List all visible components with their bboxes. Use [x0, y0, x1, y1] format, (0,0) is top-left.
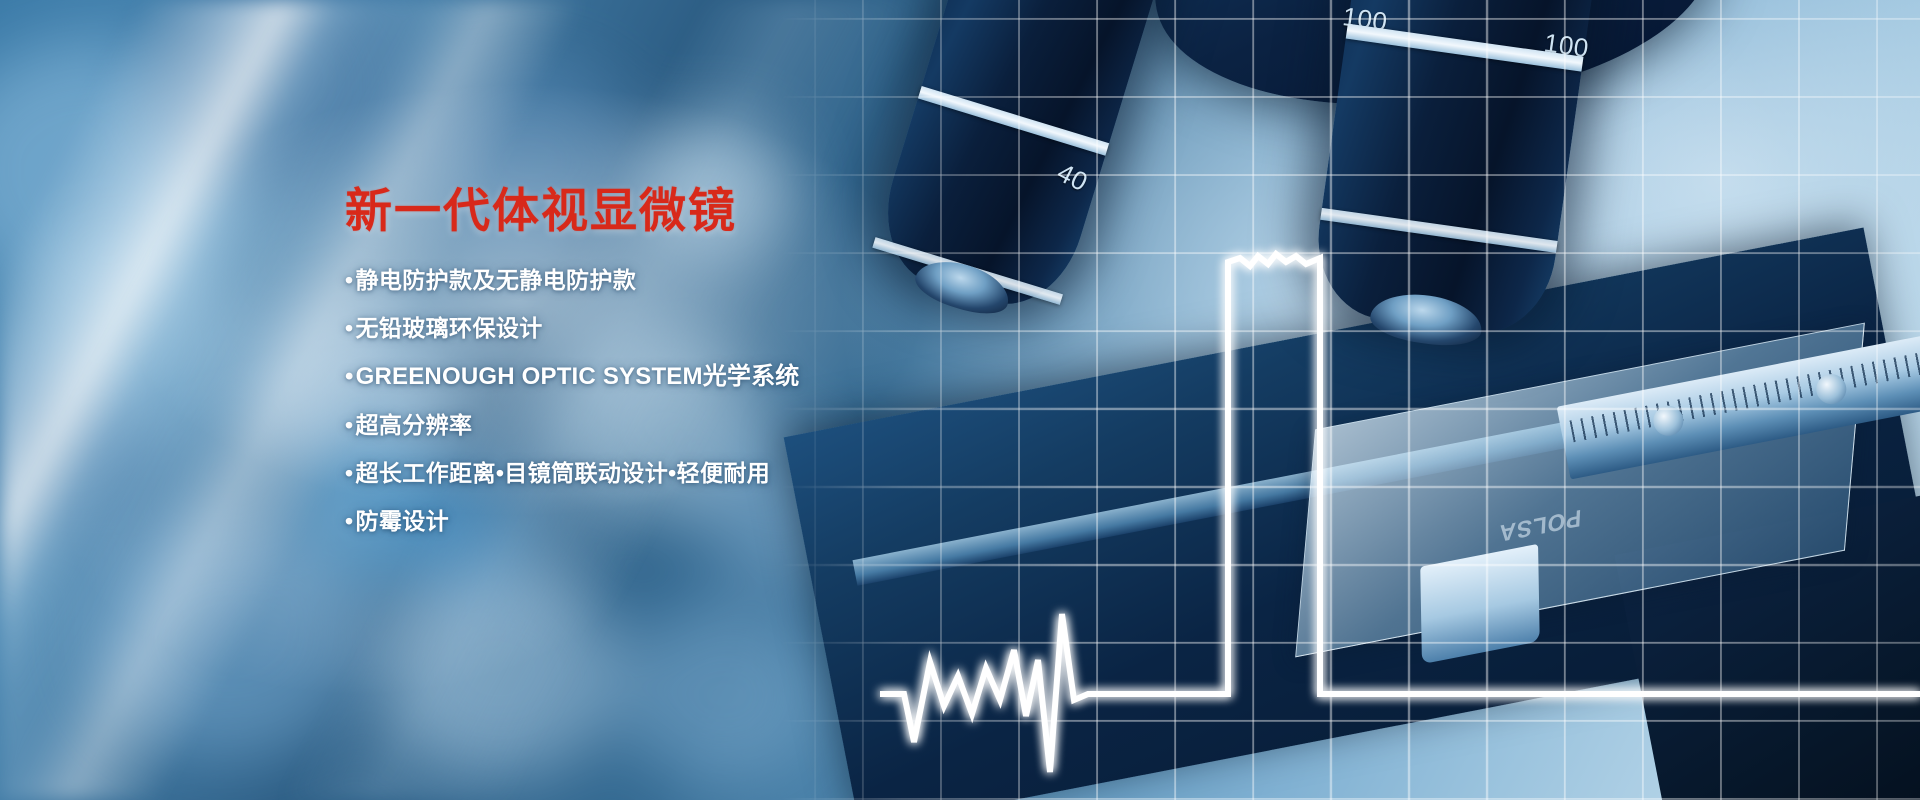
feature-list-item: •GREENOUGH OPTIC SYSTEM光学系统: [345, 365, 985, 389]
waveform-path: [880, 254, 1920, 772]
feature-list-item-label: 超长工作距离•目镜筒联动设计•轻便耐用: [355, 462, 770, 485]
bullet-marker-icon: •: [345, 269, 353, 292]
feature-list-item: •超长工作距离•目镜筒联动设计•轻便耐用: [345, 462, 985, 485]
bullet-marker-icon: •: [345, 317, 353, 340]
feature-list: •静电防护款及无静电防护款•无铅玻璃环保设计•GREENOUGH OPTIC S…: [345, 269, 985, 533]
feature-list-item-label: GREENOUGH OPTIC SYSTEM光学系统: [356, 365, 800, 389]
bullet-marker-icon: •: [345, 365, 354, 389]
feature-list-item: •防霉设计: [345, 510, 985, 533]
feature-list-item-label: 超高分辨率: [355, 414, 472, 437]
bullet-marker-icon: •: [345, 414, 353, 437]
copy-block: 新一代体视显微镜 •静电防护款及无静电防护款•无铅玻璃环保设计•GREENOUG…: [345, 186, 985, 558]
bullet-marker-icon: •: [345, 510, 353, 533]
feature-list-item: •无铅玻璃环保设计: [345, 317, 985, 340]
page-title: 新一代体视显微镜: [345, 186, 985, 236]
bullet-marker-icon: •: [345, 462, 353, 485]
feature-list-item: •超高分辨率: [345, 414, 985, 437]
feature-list-item: •静电防护款及无静电防护款: [345, 269, 985, 292]
hero-banner: POLSA 40 100/1.25 160/0.17 100 100: [0, 0, 1920, 800]
feature-list-item-label: 无铅玻璃环保设计: [355, 317, 542, 340]
feature-list-item-label: 防霉设计: [355, 510, 449, 533]
feature-list-item-label: 静电防护款及无静电防护款: [355, 269, 636, 292]
